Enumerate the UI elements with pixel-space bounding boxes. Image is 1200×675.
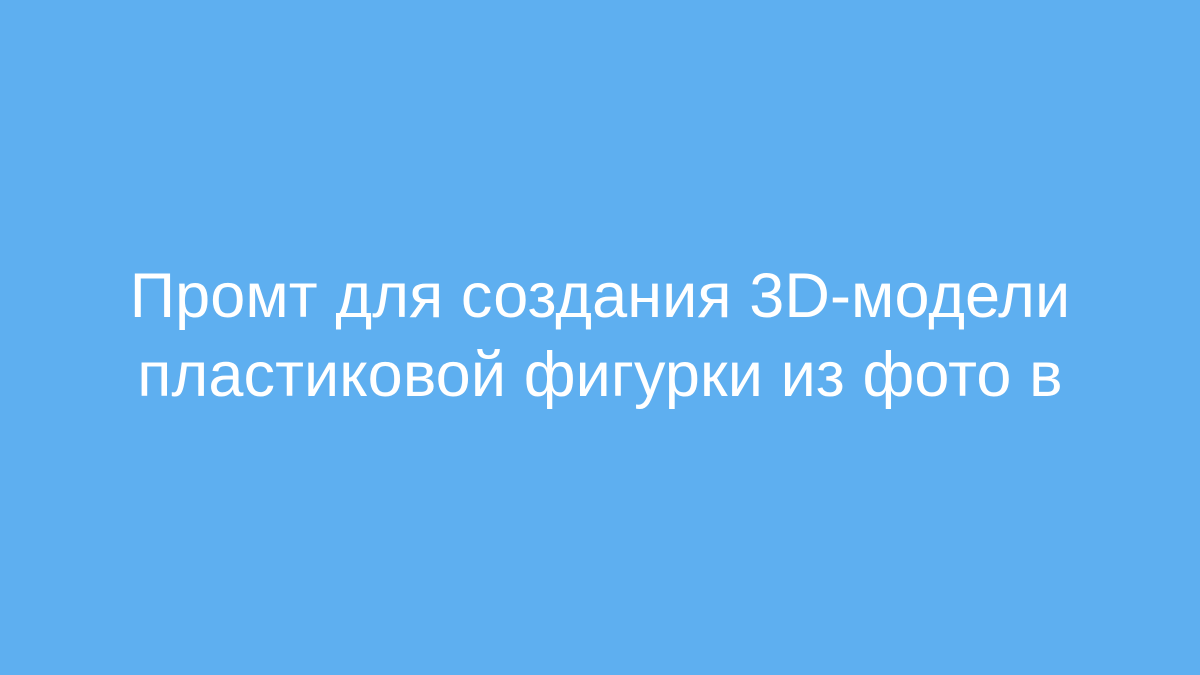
card-text-block: Промт для создания 3D-модели пластиковой… <box>70 257 1130 419</box>
page-title: Промт для создания 3D-модели пластиковой… <box>70 257 1130 419</box>
share-preview-card: Промт для создания 3D-модели пластиковой… <box>0 0 1200 675</box>
